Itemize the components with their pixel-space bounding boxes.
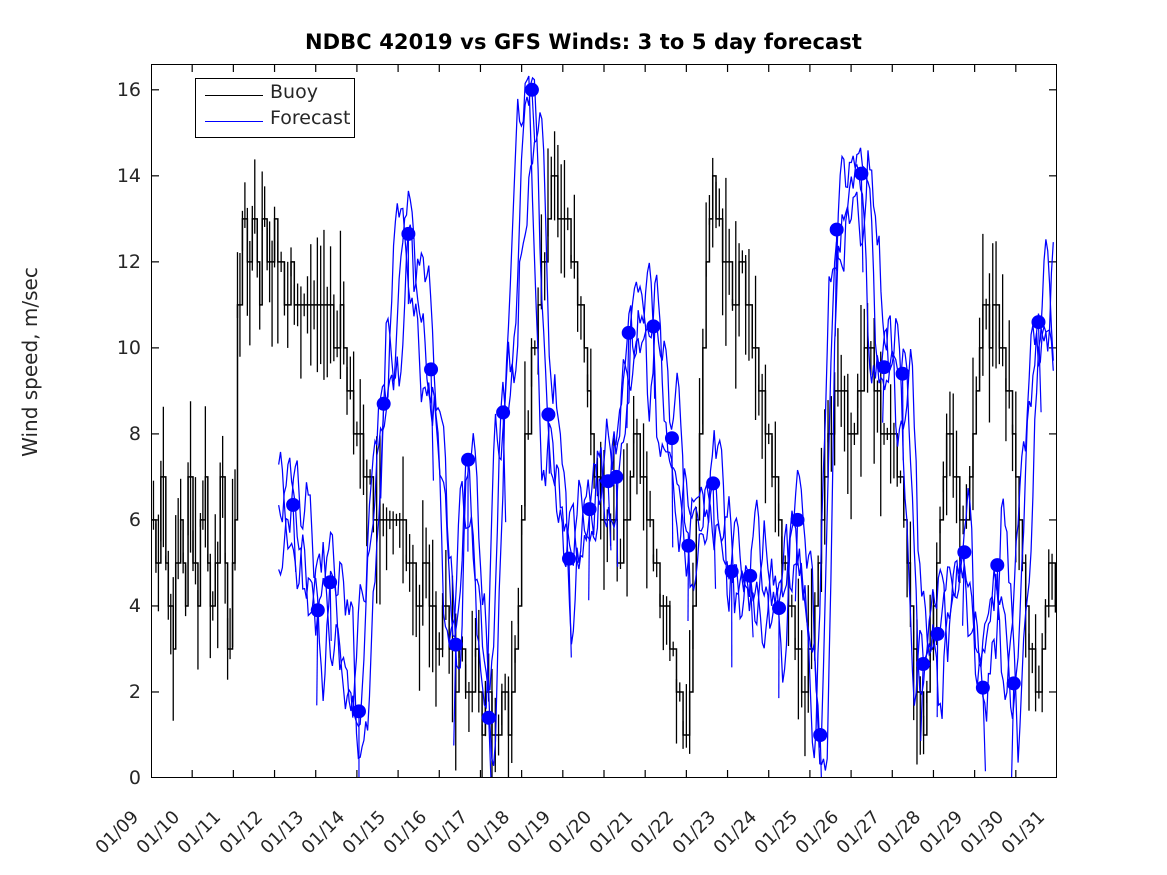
- x-tick-label: 01/11: [174, 807, 226, 859]
- legend-swatch-buoy: [205, 95, 263, 96]
- legend-entry-buoy: Buoy: [196, 83, 356, 109]
- x-tick-label: 01/16: [380, 807, 432, 859]
- legend-label-forecast: Forecast: [270, 107, 350, 129]
- y-axis-tick-labels: 0246810121416: [95, 64, 141, 778]
- legend-swatch-forecast: [205, 121, 263, 122]
- y-tick-label: 0: [129, 767, 141, 789]
- figure: NDBC 42019 vs GFS Winds: 3 to 5 day fore…: [0, 0, 1167, 875]
- x-tick-label: 01/14: [298, 807, 350, 859]
- x-tick-label: 01/13: [256, 807, 308, 859]
- x-tick-label: 01/27: [833, 807, 885, 859]
- y-tick-label: 14: [117, 165, 141, 187]
- x-tick-label: 01/24: [709, 807, 761, 859]
- plot-area: Buoy Forecast: [151, 64, 1057, 778]
- x-tick-label: 01/20: [545, 807, 597, 859]
- x-tick-label: 01/21: [586, 807, 638, 859]
- y-tick-label: 12: [117, 251, 141, 273]
- x-tick-label: 01/26: [792, 807, 844, 859]
- y-axis-label: Wind speed, m/sec: [18, 0, 42, 862]
- legend: Buoy Forecast: [195, 78, 355, 138]
- y-tick-label: 6: [129, 509, 141, 531]
- x-tick-label: 01/17: [421, 807, 473, 859]
- legend-entry-forecast: Forecast: [196, 109, 356, 135]
- x-tick-label: 01/25: [751, 807, 803, 859]
- chart-title: NDBC 42019 vs GFS Winds: 3 to 5 day fore…: [0, 30, 1167, 54]
- x-tick-label: 01/19: [503, 807, 555, 859]
- y-tick-label: 10: [117, 337, 141, 359]
- y-tick-label: 2: [129, 681, 141, 703]
- legend-label-buoy: Buoy: [270, 81, 318, 103]
- x-tick-label: 01/23: [668, 807, 720, 859]
- x-tick-label: 01/09: [92, 807, 144, 859]
- x-tick-label: 01/22: [627, 807, 679, 859]
- x-tick-label: 01/30: [956, 807, 1008, 859]
- x-tick-label: 01/18: [462, 807, 514, 859]
- x-tick-label: 01/29: [915, 807, 967, 859]
- x-axis-tick-labels: 01/0901/1001/1101/1201/1301/1401/1501/16…: [151, 778, 1057, 873]
- x-tick-label: 01/10: [133, 807, 185, 859]
- x-tick-label: 01/28: [874, 807, 926, 859]
- y-tick-label: 8: [129, 423, 141, 445]
- x-tick-label: 01/15: [339, 807, 391, 859]
- y-tick-label: 16: [117, 79, 141, 101]
- x-tick-label: 01/31: [998, 807, 1050, 859]
- plot-frame: [151, 64, 1057, 778]
- x-tick-label: 01/12: [215, 807, 267, 859]
- y-tick-label: 4: [129, 595, 141, 617]
